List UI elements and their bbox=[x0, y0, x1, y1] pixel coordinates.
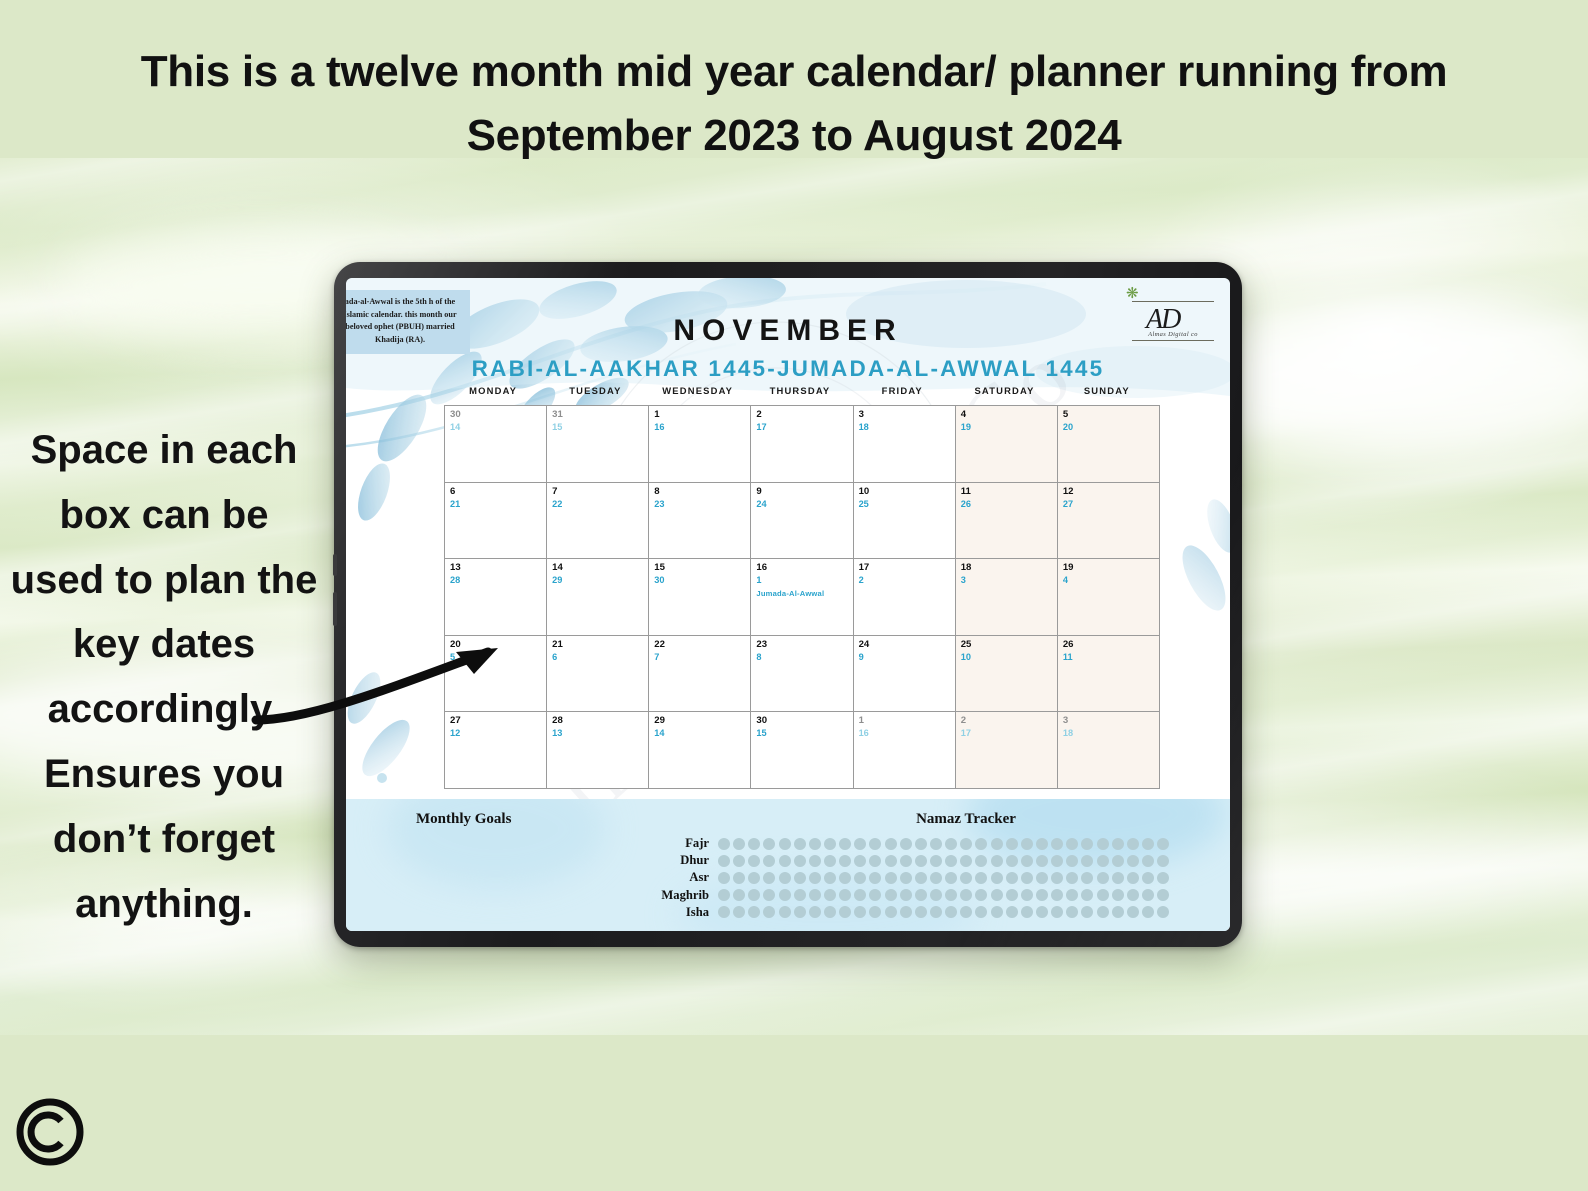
hijri-day-number: 17 bbox=[756, 421, 852, 433]
namaz-day-checkbox[interactable] bbox=[1097, 889, 1109, 901]
hijri-day-number: 7 bbox=[654, 651, 750, 663]
namaz-day-checkbox[interactable] bbox=[1051, 838, 1063, 850]
gregorian-day-number: 18 bbox=[961, 562, 1057, 574]
namaz-day-checkbox[interactable] bbox=[1051, 889, 1063, 901]
calendar-day-cell[interactable]: 216 bbox=[547, 636, 649, 713]
namaz-day-checkbox[interactable] bbox=[1081, 889, 1093, 901]
namaz-day-checkbox[interactable] bbox=[1127, 889, 1139, 901]
namaz-day-checkbox[interactable] bbox=[900, 838, 912, 850]
namaz-day-checkbox[interactable] bbox=[794, 838, 806, 850]
namaz-day-checkbox[interactable] bbox=[1142, 855, 1154, 867]
namaz-day-checkbox[interactable] bbox=[733, 838, 745, 850]
namaz-day-checkbox[interactable] bbox=[900, 855, 912, 867]
weekday-header-row: MONDAYTUESDAYWEDNESDAYTHURSDAYFRIDAYSATU… bbox=[442, 385, 1158, 396]
hijri-day-number: 25 bbox=[859, 498, 955, 510]
calendar-day-cell[interactable]: 2510 bbox=[956, 636, 1058, 713]
calendar-day-cell[interactable]: 924 bbox=[751, 483, 853, 560]
namaz-day-checkbox[interactable] bbox=[779, 906, 791, 918]
namaz-day-checkbox[interactable] bbox=[1157, 855, 1169, 867]
namaz-day-checkbox[interactable] bbox=[763, 855, 775, 867]
namaz-dot-group bbox=[718, 889, 1169, 901]
gregorian-day-number: 16 bbox=[756, 562, 852, 574]
namaz-day-checkbox[interactable] bbox=[869, 855, 881, 867]
hijri-day-number: 2 bbox=[859, 574, 955, 586]
calendar-day-cell[interactable]: 161Jumada-Al-Awwal bbox=[751, 559, 853, 636]
namaz-day-checkbox[interactable] bbox=[930, 855, 942, 867]
gregorian-day-number: 19 bbox=[1063, 562, 1159, 574]
logo-subtitle: Almas Digital co bbox=[1138, 331, 1208, 338]
namaz-day-checkbox[interactable] bbox=[945, 838, 957, 850]
namaz-day-checkbox[interactable] bbox=[748, 906, 760, 918]
gregorian-day-number: 1 bbox=[654, 409, 750, 421]
namaz-day-checkbox[interactable] bbox=[733, 906, 745, 918]
namaz-day-checkbox[interactable] bbox=[1006, 838, 1018, 850]
namaz-day-checkbox[interactable] bbox=[718, 889, 730, 901]
namaz-day-checkbox[interactable] bbox=[1112, 889, 1124, 901]
calendar-day-cell[interactable]: 217 bbox=[956, 712, 1058, 789]
namaz-day-checkbox[interactable] bbox=[945, 906, 957, 918]
namaz-day-checkbox[interactable] bbox=[1097, 906, 1109, 918]
namaz-day-checkbox[interactable] bbox=[1021, 872, 1033, 884]
weekday-header-monday: MONDAY bbox=[442, 385, 544, 396]
hijri-day-number: 15 bbox=[756, 727, 852, 739]
namaz-day-checkbox[interactable] bbox=[991, 855, 1003, 867]
calendar-day-cell[interactable]: 823 bbox=[649, 483, 751, 560]
namaz-day-checkbox[interactable] bbox=[975, 855, 987, 867]
bottom-panel: Monthly Goals Namaz Tracker FajrDhurAsrM… bbox=[346, 799, 1230, 931]
calendar-day-cell[interactable]: 2611 bbox=[1058, 636, 1160, 713]
namaz-day-checkbox[interactable] bbox=[930, 872, 942, 884]
namaz-day-checkbox[interactable] bbox=[915, 855, 927, 867]
namaz-day-checkbox[interactable] bbox=[915, 906, 927, 918]
calendar-day-cell[interactable]: 116 bbox=[649, 406, 751, 483]
namaz-day-checkbox[interactable] bbox=[869, 889, 881, 901]
namaz-day-checkbox[interactable] bbox=[930, 906, 942, 918]
hijri-day-number: 27 bbox=[1063, 498, 1159, 510]
calendar-day-cell[interactable]: 318 bbox=[854, 406, 956, 483]
namaz-day-checkbox[interactable] bbox=[1097, 838, 1109, 850]
gregorian-day-number: 30 bbox=[450, 409, 546, 421]
namaz-day-checkbox[interactable] bbox=[1021, 838, 1033, 850]
namaz-day-checkbox[interactable] bbox=[1036, 906, 1048, 918]
namaz-day-checkbox[interactable] bbox=[915, 889, 927, 901]
weekday-header-saturday: SATURDAY bbox=[953, 385, 1055, 396]
namaz-day-checkbox[interactable] bbox=[854, 889, 866, 901]
namaz-day-checkbox[interactable] bbox=[794, 872, 806, 884]
pointer-arrow-icon bbox=[250, 628, 520, 738]
namaz-day-checkbox[interactable] bbox=[763, 906, 775, 918]
calendar-day-cell[interactable]: 621 bbox=[445, 483, 547, 560]
namaz-day-checkbox[interactable] bbox=[960, 889, 972, 901]
namaz-day-checkbox[interactable] bbox=[733, 855, 745, 867]
namaz-day-checkbox[interactable] bbox=[1006, 889, 1018, 901]
gregorian-day-number: 4 bbox=[961, 409, 1057, 421]
calendar-day-cell[interactable]: 520 bbox=[1058, 406, 1160, 483]
weekday-header-friday: FRIDAY bbox=[851, 385, 953, 396]
namaz-day-checkbox[interactable] bbox=[763, 838, 775, 850]
calendar-day-cell[interactable]: 419 bbox=[956, 406, 1058, 483]
month-note-box: ada-al-Awwal is the 5th h of the Islamic… bbox=[346, 290, 470, 354]
namaz-day-checkbox[interactable] bbox=[794, 889, 806, 901]
namaz-row-asr: Asr bbox=[626, 869, 1169, 886]
namaz-day-checkbox[interactable] bbox=[1127, 855, 1139, 867]
calendar-day-cell[interactable]: 227 bbox=[649, 636, 751, 713]
namaz-day-checkbox[interactable] bbox=[1051, 872, 1063, 884]
namaz-day-checkbox[interactable] bbox=[824, 838, 836, 850]
hijri-day-number: 30 bbox=[654, 574, 750, 586]
tablet-volume-button[interactable] bbox=[333, 554, 337, 576]
namaz-day-checkbox[interactable] bbox=[900, 872, 912, 884]
namaz-prayer-label: Isha bbox=[626, 905, 718, 920]
gregorian-day-number: 3 bbox=[1063, 715, 1159, 727]
header-banner: This is a twelve month mid year calendar… bbox=[0, 0, 1588, 158]
namaz-day-checkbox[interactable] bbox=[915, 872, 927, 884]
gregorian-day-number: 30 bbox=[756, 715, 852, 727]
namaz-tracker-title: Namaz Tracker bbox=[816, 811, 1116, 828]
namaz-day-checkbox[interactable] bbox=[794, 906, 806, 918]
gregorian-day-number: 14 bbox=[552, 562, 648, 574]
namaz-day-checkbox[interactable] bbox=[1142, 889, 1154, 901]
namaz-day-checkbox[interactable] bbox=[975, 872, 987, 884]
namaz-day-checkbox[interactable] bbox=[763, 872, 775, 884]
calendar-day-cell[interactable]: 183 bbox=[956, 559, 1058, 636]
namaz-day-checkbox[interactable] bbox=[1157, 872, 1169, 884]
namaz-day-checkbox[interactable] bbox=[991, 906, 1003, 918]
gregorian-day-number: 26 bbox=[1063, 639, 1159, 651]
namaz-day-checkbox[interactable] bbox=[991, 838, 1003, 850]
hijri-day-number: 29 bbox=[552, 574, 648, 586]
calendar-day-cell[interactable]: 3014 bbox=[445, 406, 547, 483]
hijri-day-number: 14 bbox=[654, 727, 750, 739]
namaz-day-checkbox[interactable] bbox=[1112, 906, 1124, 918]
namaz-day-checkbox[interactable] bbox=[854, 872, 866, 884]
namaz-day-checkbox[interactable] bbox=[900, 906, 912, 918]
namaz-day-checkbox[interactable] bbox=[1006, 855, 1018, 867]
namaz-day-checkbox[interactable] bbox=[960, 838, 972, 850]
calendar-day-cell[interactable]: 194 bbox=[1058, 559, 1160, 636]
namaz-day-checkbox[interactable] bbox=[809, 838, 821, 850]
brand-logo: ❋ AD Almas Digital co bbox=[1118, 284, 1214, 346]
namaz-day-checkbox[interactable] bbox=[1021, 855, 1033, 867]
hijri-day-number: 8 bbox=[756, 651, 852, 663]
namaz-day-checkbox[interactable] bbox=[839, 906, 851, 918]
gregorian-day-number: 11 bbox=[961, 486, 1057, 498]
namaz-dot-group bbox=[718, 855, 1169, 867]
namaz-day-checkbox[interactable] bbox=[809, 855, 821, 867]
namaz-day-checkbox[interactable] bbox=[1127, 872, 1139, 884]
hijri-day-number: 18 bbox=[1063, 727, 1159, 739]
namaz-day-checkbox[interactable] bbox=[1051, 906, 1063, 918]
hijri-day-number: 1 bbox=[756, 574, 852, 586]
namaz-day-checkbox[interactable] bbox=[824, 872, 836, 884]
namaz-day-checkbox[interactable] bbox=[1021, 889, 1033, 901]
namaz-day-checkbox[interactable] bbox=[945, 855, 957, 867]
namaz-day-checkbox[interactable] bbox=[824, 889, 836, 901]
hijri-day-number: 19 bbox=[961, 421, 1057, 433]
namaz-day-checkbox[interactable] bbox=[930, 889, 942, 901]
namaz-day-checkbox[interactable] bbox=[779, 838, 791, 850]
namaz-day-checkbox[interactable] bbox=[1097, 855, 1109, 867]
namaz-day-checkbox[interactable] bbox=[809, 906, 821, 918]
namaz-day-checkbox[interactable] bbox=[718, 855, 730, 867]
hijri-month-title: RABI-AL-AAKHAR 1445-JUMADA-AL-AWWAL 1445 bbox=[346, 356, 1230, 382]
namaz-day-checkbox[interactable] bbox=[869, 872, 881, 884]
hijri-day-number: 18 bbox=[859, 421, 955, 433]
namaz-day-checkbox[interactable] bbox=[779, 872, 791, 884]
namaz-day-checkbox[interactable] bbox=[1142, 872, 1154, 884]
namaz-day-checkbox[interactable] bbox=[915, 838, 927, 850]
gregorian-day-number: 13 bbox=[450, 562, 546, 574]
namaz-day-checkbox[interactable] bbox=[960, 872, 972, 884]
weekday-header-wednesday: WEDNESDAY bbox=[647, 385, 749, 396]
namaz-day-checkbox[interactable] bbox=[854, 855, 866, 867]
logo-rule-top bbox=[1132, 301, 1214, 302]
namaz-day-checkbox[interactable] bbox=[991, 872, 1003, 884]
namaz-day-checkbox[interactable] bbox=[1127, 838, 1139, 850]
hijri-day-number: 24 bbox=[756, 498, 852, 510]
calendar-day-cell[interactable]: 318 bbox=[1058, 712, 1160, 789]
gregorian-day-number: 25 bbox=[961, 639, 1057, 651]
calendar-day-cell[interactable]: 1126 bbox=[956, 483, 1058, 560]
namaz-prayer-label: Dhur bbox=[626, 853, 718, 868]
namaz-day-checkbox[interactable] bbox=[748, 855, 760, 867]
namaz-day-checkbox[interactable] bbox=[839, 838, 851, 850]
page-title: This is a twelve month mid year calendar… bbox=[70, 40, 1518, 168]
hijri-day-number: 23 bbox=[654, 498, 750, 510]
calendar-day-cell[interactable]: 3115 bbox=[547, 406, 649, 483]
namaz-prayer-label: Maghrib bbox=[626, 888, 718, 903]
namaz-day-checkbox[interactable] bbox=[1066, 855, 1078, 867]
calendar-grid: 3014311511621731841952062172282392410251… bbox=[444, 405, 1160, 789]
namaz-day-checkbox[interactable] bbox=[1036, 889, 1048, 901]
gregorian-day-number: 23 bbox=[756, 639, 852, 651]
namaz-day-checkbox[interactable] bbox=[1081, 906, 1093, 918]
hijri-day-number: 14 bbox=[450, 421, 546, 433]
namaz-day-checkbox[interactable] bbox=[748, 872, 760, 884]
namaz-day-checkbox[interactable] bbox=[885, 872, 897, 884]
hijri-day-number: 13 bbox=[552, 727, 648, 739]
namaz-day-checkbox[interactable] bbox=[1157, 889, 1169, 901]
namaz-row-maghrib: Maghrib bbox=[626, 887, 1169, 904]
hijri-day-number: 17 bbox=[961, 727, 1057, 739]
namaz-day-checkbox[interactable] bbox=[748, 838, 760, 850]
calendar-day-cell[interactable]: 1025 bbox=[854, 483, 956, 560]
namaz-day-checkbox[interactable] bbox=[869, 838, 881, 850]
monthly-goals-title: Monthly Goals bbox=[416, 811, 511, 828]
hijri-day-number: 20 bbox=[1063, 421, 1159, 433]
poster-canvas: This is a twelve month mid year calendar… bbox=[0, 0, 1588, 1191]
namaz-day-checkbox[interactable] bbox=[975, 889, 987, 901]
namaz-day-checkbox[interactable] bbox=[1127, 906, 1139, 918]
hijri-day-number: 3 bbox=[961, 574, 1057, 586]
hijri-day-number: 16 bbox=[859, 727, 955, 739]
hijri-day-number: 11 bbox=[1063, 651, 1159, 663]
calendar-day-cell[interactable]: 1328 bbox=[445, 559, 547, 636]
namaz-day-checkbox[interactable] bbox=[975, 838, 987, 850]
footer-banner bbox=[0, 1036, 1588, 1191]
calendar-day-cell[interactable]: 172 bbox=[854, 559, 956, 636]
calendar-day-cell[interactable]: 116 bbox=[854, 712, 956, 789]
hijri-day-number: 28 bbox=[450, 574, 546, 586]
namaz-day-checkbox[interactable] bbox=[930, 838, 942, 850]
gregorian-day-number: 21 bbox=[552, 639, 648, 651]
namaz-day-checkbox[interactable] bbox=[1066, 872, 1078, 884]
hijri-day-number: 10 bbox=[961, 651, 1057, 663]
namaz-day-checkbox[interactable] bbox=[1066, 889, 1078, 901]
hijri-day-number: 26 bbox=[961, 498, 1057, 510]
gregorian-day-number: 7 bbox=[552, 486, 648, 498]
gregorian-day-number: 6 bbox=[450, 486, 546, 498]
namaz-day-checkbox[interactable] bbox=[885, 889, 897, 901]
namaz-day-checkbox[interactable] bbox=[885, 838, 897, 850]
namaz-day-checkbox[interactable] bbox=[1157, 838, 1169, 850]
namaz-day-checkbox[interactable] bbox=[1051, 855, 1063, 867]
namaz-day-checkbox[interactable] bbox=[1021, 906, 1033, 918]
namaz-day-checkbox[interactable] bbox=[975, 906, 987, 918]
namaz-day-checkbox[interactable] bbox=[718, 906, 730, 918]
namaz-day-checkbox[interactable] bbox=[1036, 855, 1048, 867]
hijri-day-number: 15 bbox=[552, 421, 648, 433]
namaz-tracker-rows: FajrDhurAsrMaghribIsha bbox=[626, 835, 1169, 921]
tablet-screen: Almas Digital Co ada-al-Awwal is the 5th… bbox=[346, 278, 1230, 931]
calendar-day-cell[interactable]: 2914 bbox=[649, 712, 751, 789]
namaz-day-checkbox[interactable] bbox=[809, 889, 821, 901]
namaz-day-checkbox[interactable] bbox=[1006, 872, 1018, 884]
namaz-day-checkbox[interactable] bbox=[854, 906, 866, 918]
gregorian-day-number: 2 bbox=[756, 409, 852, 421]
hijri-day-number: 22 bbox=[552, 498, 648, 510]
weekday-header-sunday: SUNDAY bbox=[1056, 385, 1158, 396]
gregorian-day-number: 12 bbox=[1063, 486, 1159, 498]
namaz-row-isha: Isha bbox=[626, 904, 1169, 921]
namaz-day-checkbox[interactable] bbox=[960, 855, 972, 867]
calendar-day-cell[interactable]: 217 bbox=[751, 406, 853, 483]
gregorian-day-number: 28 bbox=[552, 715, 648, 727]
namaz-day-checkbox[interactable] bbox=[1157, 906, 1169, 918]
namaz-day-checkbox[interactable] bbox=[839, 872, 851, 884]
namaz-day-checkbox[interactable] bbox=[1006, 906, 1018, 918]
calendar-day-cell[interactable]: 1429 bbox=[547, 559, 649, 636]
hijri-day-number: 6 bbox=[552, 651, 648, 663]
namaz-dot-group bbox=[718, 906, 1169, 918]
namaz-day-checkbox[interactable] bbox=[1142, 838, 1154, 850]
namaz-day-checkbox[interactable] bbox=[854, 838, 866, 850]
namaz-day-checkbox[interactable] bbox=[779, 889, 791, 901]
gregorian-day-number: 8 bbox=[654, 486, 750, 498]
namaz-prayer-label: Fajr bbox=[626, 836, 718, 851]
namaz-day-checkbox[interactable] bbox=[991, 889, 1003, 901]
namaz-day-checkbox[interactable] bbox=[945, 889, 957, 901]
namaz-day-checkbox[interactable] bbox=[763, 889, 775, 901]
namaz-day-checkbox[interactable] bbox=[1112, 872, 1124, 884]
gregorian-day-number: 3 bbox=[859, 409, 955, 421]
calendar-day-cell[interactable]: 2813 bbox=[547, 712, 649, 789]
namaz-day-checkbox[interactable] bbox=[718, 872, 730, 884]
namaz-row-dhur: Dhur bbox=[626, 852, 1169, 869]
namaz-day-checkbox[interactable] bbox=[1036, 838, 1048, 850]
tablet-device: Almas Digital Co ada-al-Awwal is the 5th… bbox=[334, 262, 1242, 947]
namaz-prayer-label: Asr bbox=[626, 870, 718, 885]
gregorian-day-number: 24 bbox=[859, 639, 955, 651]
weekday-header-thursday: THURSDAY bbox=[749, 385, 851, 396]
logo-rule-bottom bbox=[1132, 340, 1214, 341]
copyright-icon bbox=[14, 1096, 86, 1168]
namaz-day-checkbox[interactable] bbox=[1036, 872, 1048, 884]
namaz-day-checkbox[interactable] bbox=[733, 889, 745, 901]
namaz-day-checkbox[interactable] bbox=[1112, 855, 1124, 867]
namaz-day-checkbox[interactable] bbox=[1081, 855, 1093, 867]
calendar-day-cell[interactable]: 238 bbox=[751, 636, 853, 713]
namaz-day-checkbox[interactable] bbox=[1142, 906, 1154, 918]
gregorian-day-number: 31 bbox=[552, 409, 648, 421]
calendar-day-cell[interactable]: 249 bbox=[854, 636, 956, 713]
hijri-day-number: 16 bbox=[654, 421, 750, 433]
gregorian-day-number: 5 bbox=[1063, 409, 1159, 421]
day-event-label: Jumada-Al-Awwal bbox=[756, 589, 852, 598]
calendar-day-cell[interactable]: 1227 bbox=[1058, 483, 1160, 560]
calendar-day-cell[interactable]: 3015 bbox=[751, 712, 853, 789]
gregorian-day-number: 2 bbox=[961, 715, 1057, 727]
namaz-day-checkbox[interactable] bbox=[839, 889, 851, 901]
namaz-row-fajr: Fajr bbox=[626, 835, 1169, 852]
month-title: NOVEMBER bbox=[346, 314, 1230, 348]
namaz-day-checkbox[interactable] bbox=[1081, 872, 1093, 884]
gregorian-day-number: 17 bbox=[859, 562, 955, 574]
gregorian-day-number: 1 bbox=[859, 715, 955, 727]
namaz-day-checkbox[interactable] bbox=[794, 855, 806, 867]
weekday-header-tuesday: TUESDAY bbox=[544, 385, 646, 396]
gregorian-day-number: 29 bbox=[654, 715, 750, 727]
gregorian-day-number: 22 bbox=[654, 639, 750, 651]
namaz-day-checkbox[interactable] bbox=[733, 872, 745, 884]
gregorian-day-number: 9 bbox=[756, 486, 852, 498]
gregorian-day-number: 15 bbox=[654, 562, 750, 574]
namaz-day-checkbox[interactable] bbox=[824, 906, 836, 918]
namaz-day-checkbox[interactable] bbox=[1066, 906, 1078, 918]
namaz-day-checkbox[interactable] bbox=[824, 855, 836, 867]
hijri-day-number: 21 bbox=[450, 498, 546, 510]
namaz-day-checkbox[interactable] bbox=[1097, 872, 1109, 884]
calendar-day-cell[interactable]: 722 bbox=[547, 483, 649, 560]
calendar-day-cell[interactable]: 1530 bbox=[649, 559, 751, 636]
tablet-power-button[interactable] bbox=[333, 592, 337, 626]
namaz-day-checkbox[interactable] bbox=[1066, 838, 1078, 850]
namaz-dot-group bbox=[718, 838, 1169, 850]
namaz-day-checkbox[interactable] bbox=[1112, 838, 1124, 850]
hijri-day-number: 4 bbox=[1063, 574, 1159, 586]
namaz-day-checkbox[interactable] bbox=[839, 855, 851, 867]
namaz-day-checkbox[interactable] bbox=[1081, 838, 1093, 850]
namaz-day-checkbox[interactable] bbox=[779, 855, 791, 867]
namaz-day-checkbox[interactable] bbox=[718, 838, 730, 850]
namaz-day-checkbox[interactable] bbox=[885, 906, 897, 918]
namaz-day-checkbox[interactable] bbox=[900, 889, 912, 901]
namaz-day-checkbox[interactable] bbox=[945, 872, 957, 884]
hijri-day-number: 9 bbox=[859, 651, 955, 663]
gregorian-day-number: 10 bbox=[859, 486, 955, 498]
namaz-dot-group bbox=[718, 872, 1169, 884]
namaz-day-checkbox[interactable] bbox=[748, 889, 760, 901]
namaz-day-checkbox[interactable] bbox=[960, 906, 972, 918]
leaf-icon: ❋ bbox=[1126, 286, 1139, 301]
namaz-day-checkbox[interactable] bbox=[869, 906, 881, 918]
namaz-day-checkbox[interactable] bbox=[809, 872, 821, 884]
namaz-day-checkbox[interactable] bbox=[885, 855, 897, 867]
